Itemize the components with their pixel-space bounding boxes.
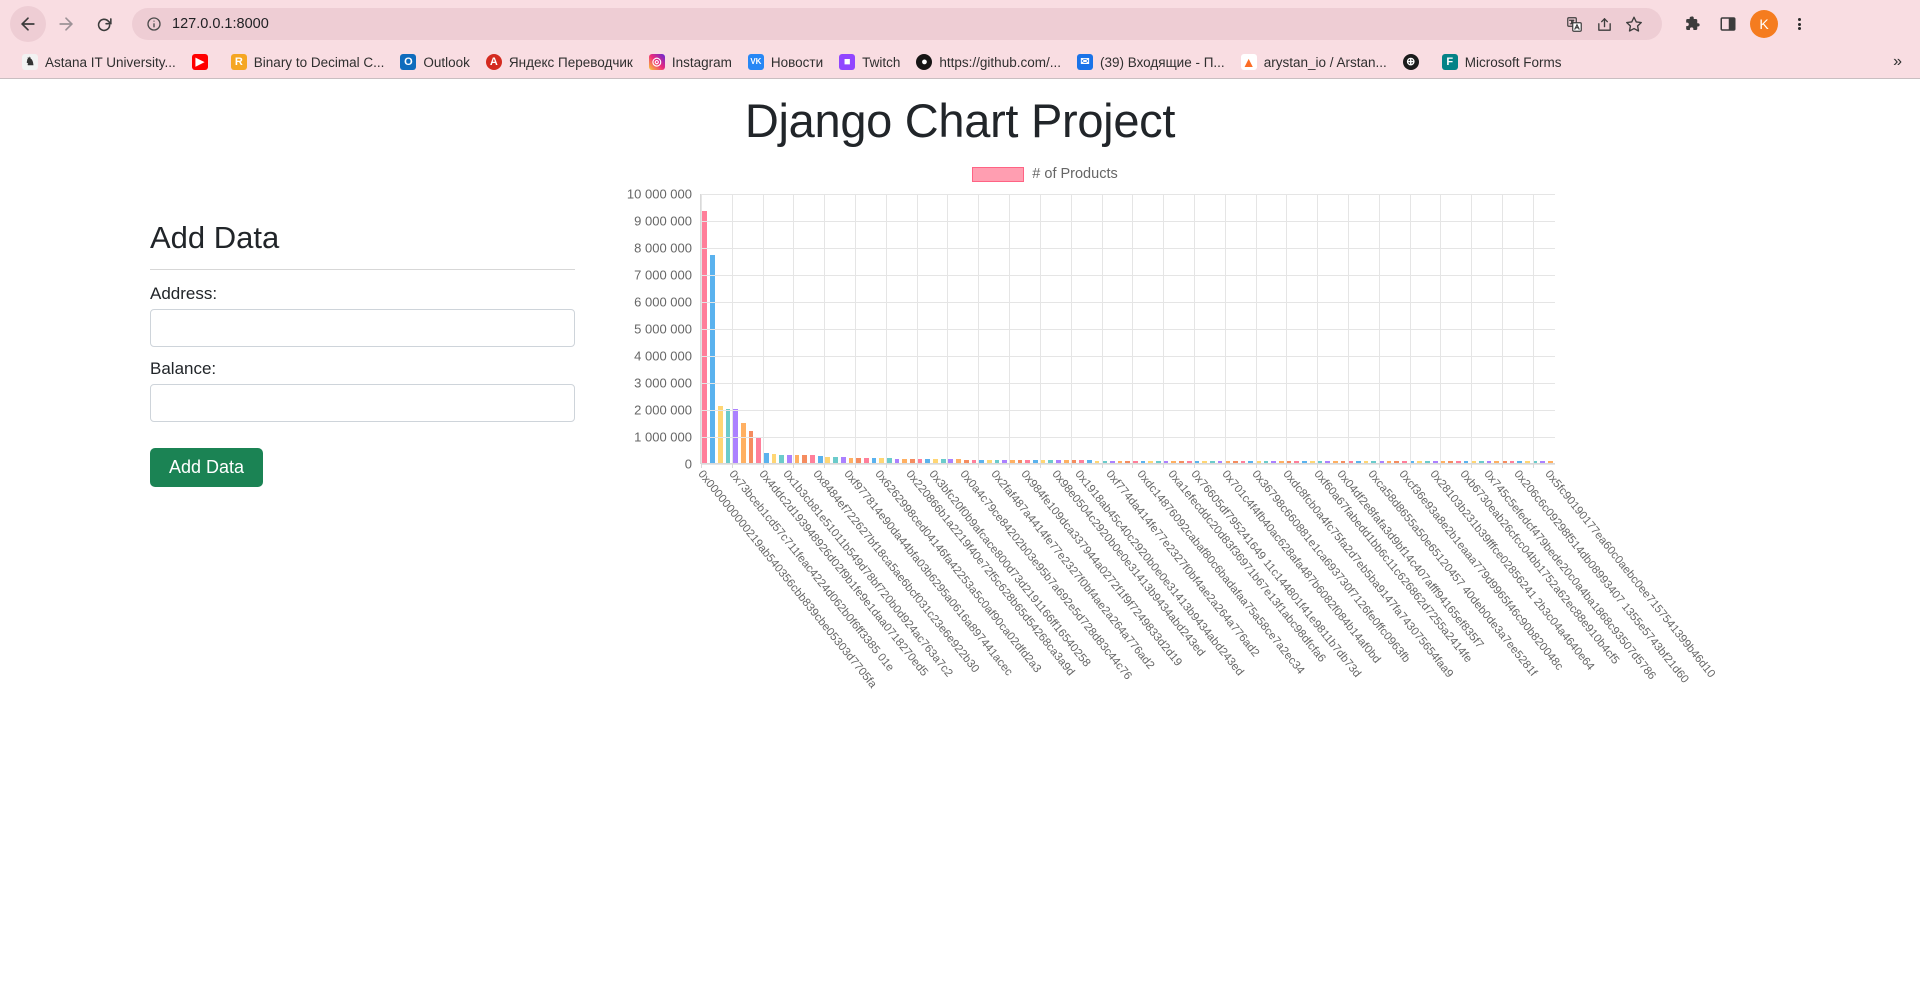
bookmark-label: Новости <box>771 55 823 70</box>
x-axis-tick-mark <box>701 463 702 468</box>
chart-bar[interactable] <box>787 455 792 463</box>
grid-line-vertical <box>1502 194 1503 463</box>
page-title: Django Chart Project <box>0 79 1920 148</box>
grid-line-vertical <box>824 194 825 463</box>
x-axis-tick-mark <box>886 463 887 468</box>
chart-bar[interactable] <box>948 459 953 463</box>
x-axis-tick-mark <box>1163 463 1164 468</box>
chart-bar[interactable] <box>925 459 930 463</box>
chart-bar[interactable] <box>1156 461 1161 463</box>
github-icon: ● <box>916 54 932 70</box>
chart-bar[interactable] <box>1148 461 1153 463</box>
twitch-icon: ■ <box>839 54 855 70</box>
x-axis-tick-mark <box>1040 463 1041 468</box>
chart-bar[interactable] <box>1310 461 1315 463</box>
chart-bar[interactable] <box>1033 460 1038 463</box>
bookmarks-bar: ♞Astana IT University... ▶ RBinary to De… <box>0 46 1920 78</box>
content-row: Add Data Address: Balance: Add Data # of… <box>0 148 1920 806</box>
chart-bar[interactable] <box>902 459 907 463</box>
chart-bar[interactable] <box>918 459 923 463</box>
form-heading: Add Data <box>150 220 560 256</box>
x-axis-tick-mark <box>1471 463 1472 468</box>
chart-bar[interactable] <box>1164 461 1169 463</box>
grid-line-vertical <box>1225 194 1226 463</box>
y-axis-tick-label: 6 000 000 <box>634 295 692 310</box>
chart-bar[interactable] <box>749 431 754 463</box>
chart-bar[interactable] <box>1248 461 1253 463</box>
chart-bar[interactable] <box>1256 461 1261 463</box>
y-axis-tick-label: 1 000 000 <box>634 430 692 445</box>
grid-line-horizontal <box>701 437 1555 438</box>
bookmark-label: Outlook <box>423 55 470 70</box>
chart-bar[interactable] <box>1417 461 1422 463</box>
x-axis-tick-mark <box>1225 463 1226 468</box>
chart-bar[interactable] <box>1271 461 1276 463</box>
x-axis-tick-mark <box>763 463 764 468</box>
chart-bar[interactable] <box>1210 461 1215 463</box>
avatar[interactable]: K <box>1750 10 1778 38</box>
grid-line-vertical <box>1471 194 1472 463</box>
mail-icon: ✉ <box>1077 54 1093 70</box>
x-axis-tick-mark <box>1256 463 1257 468</box>
chart-bar[interactable] <box>841 457 846 463</box>
chart-bar[interactable] <box>1056 460 1061 463</box>
x-axis-tick-mark <box>1348 463 1349 468</box>
x-axis-tick-mark <box>824 463 825 468</box>
chart-bar[interactable] <box>833 457 838 463</box>
chart-bar[interactable] <box>1194 461 1199 463</box>
grid-line-vertical <box>1102 194 1103 463</box>
chart-bar[interactable] <box>1540 461 1545 463</box>
chart-bar[interactable] <box>1371 461 1376 463</box>
grid-line-vertical <box>1533 194 1534 463</box>
bookmark-label: https://github.com/... <box>939 55 1061 70</box>
chart-bar[interactable] <box>849 458 854 463</box>
address-input[interactable] <box>150 309 575 347</box>
chart-bar[interactable] <box>979 460 984 463</box>
bookmarks-overflow-button[interactable]: » <box>1887 53 1908 71</box>
instagram-icon: ◎ <box>649 54 665 70</box>
microsoft-forms-icon: F <box>1442 54 1458 70</box>
chart-bar[interactable] <box>956 459 961 463</box>
products-bar-chart[interactable]: # of Products 01 000 0002 000 0003 000 0… <box>570 166 1670 806</box>
three-dot-menu-icon[interactable] <box>1786 10 1812 38</box>
chart-bar[interactable] <box>1525 461 1530 463</box>
chart-bar[interactable] <box>1141 461 1146 463</box>
chart-bar[interactable] <box>1041 460 1046 463</box>
address-label: Address: <box>150 284 560 304</box>
puzzle-piece-icon[interactable] <box>1678 10 1706 38</box>
x-axis-tick-mark <box>793 463 794 468</box>
address-bar[interactable]: 127.0.0.1:8000 <box>132 8 1662 40</box>
chart-bar[interactable] <box>1002 460 1007 463</box>
rapidtables-icon: R <box>231 54 247 70</box>
translate-icon[interactable] <box>1560 10 1588 38</box>
bookmark-item[interactable]: ■Twitch <box>831 51 908 73</box>
chart-bar[interactable] <box>1510 461 1515 463</box>
chart-bar[interactable] <box>1179 461 1184 463</box>
yandex-translate-icon: А <box>486 54 502 70</box>
bookmark-label: (39) Входящие - П... <box>1100 55 1225 70</box>
grid-line-vertical <box>1410 194 1411 463</box>
chart-bar[interactable] <box>772 454 777 463</box>
grid-line-horizontal <box>701 329 1555 330</box>
legend-label: # of Products <box>1032 166 1117 182</box>
chart-bar[interactable] <box>1202 461 1207 463</box>
grid-line-vertical <box>1379 194 1380 463</box>
grid-line-vertical <box>1348 194 1349 463</box>
legend-swatch-icon <box>972 167 1024 182</box>
grid-line-horizontal <box>701 221 1555 222</box>
x-axis-tick-mark <box>1132 463 1133 468</box>
bookmark-item[interactable]: FMicrosoft Forms <box>1434 51 1570 73</box>
bookmark-label: Instagram <box>672 55 732 70</box>
outlook-icon: O <box>400 54 416 70</box>
chart-bar[interactable] <box>1071 460 1076 463</box>
chart-column: # of Products 01 000 0002 000 0003 000 0… <box>560 148 1920 806</box>
x-axis-tick-mark <box>978 463 979 468</box>
grid-line-horizontal <box>701 383 1555 384</box>
x-axis-tick-mark <box>1009 463 1010 468</box>
chart-bar[interactable] <box>1125 461 1130 463</box>
chart-bar[interactable] <box>895 459 900 463</box>
grid-line-vertical <box>1009 194 1010 463</box>
chart-bar[interactable] <box>795 455 800 463</box>
bookmark-label: Microsoft Forms <box>1465 55 1562 70</box>
grid-line-vertical <box>1163 194 1164 463</box>
chart-bar[interactable] <box>1118 461 1123 463</box>
grid-line-horizontal <box>701 410 1555 411</box>
y-axis-tick-label: 0 <box>685 457 692 472</box>
grid-line-vertical <box>1256 194 1257 463</box>
side-panel-icon[interactable] <box>1714 10 1742 38</box>
grid-line-horizontal <box>701 356 1555 357</box>
browser-toolbar: 127.0.0.1:8000 K <box>0 2 1920 46</box>
chart-bar[interactable] <box>1241 461 1246 463</box>
grid-line-horizontal <box>701 275 1555 276</box>
chart-bar[interactable] <box>1494 461 1499 463</box>
chart-bar[interactable] <box>1171 461 1176 463</box>
x-axis-tick-mark <box>1102 463 1103 468</box>
x-axis-tick-mark <box>947 463 948 468</box>
chart-bar[interactable] <box>1448 461 1453 463</box>
reload-button[interactable] <box>86 6 122 42</box>
chart-bar[interactable] <box>941 459 946 463</box>
chart-bar[interactable] <box>872 458 877 463</box>
grid-line-vertical <box>1440 194 1441 463</box>
chart-bar[interactable] <box>879 458 884 463</box>
browser-actions: K <box>1670 10 1812 38</box>
grid-line-horizontal <box>701 302 1555 303</box>
chart-bar[interactable] <box>1325 461 1330 463</box>
grid-line-vertical <box>886 194 887 463</box>
chart-plot-area: 01 000 0002 000 0003 000 0004 000 0005 0… <box>700 194 1555 464</box>
chart-bar[interactable] <box>1464 461 1469 463</box>
chart-bar[interactable] <box>1064 460 1069 463</box>
form-divider <box>150 269 575 270</box>
grid-line-vertical <box>1194 194 1195 463</box>
chart-bar[interactable] <box>1133 461 1138 463</box>
y-axis-tick-label: 8 000 000 <box>634 241 692 256</box>
chart-bar[interactable] <box>1487 461 1492 463</box>
chart-bar[interactable] <box>802 455 807 463</box>
bookmark-item[interactable]: АЯндекс Переводчик <box>478 51 641 73</box>
y-axis-tick-label: 3 000 000 <box>634 376 692 391</box>
gitlab-icon: ▲ <box>1241 54 1257 70</box>
chart-bar[interactable] <box>864 458 869 463</box>
chart-bar[interactable] <box>1279 461 1284 463</box>
chart-bar[interactable] <box>1287 461 1292 463</box>
chart-bar[interactable] <box>1110 461 1115 463</box>
chart-bar[interactable] <box>1394 461 1399 463</box>
chart-bar[interactable] <box>1233 461 1238 463</box>
bookmark-item[interactable]: ⊕ <box>1395 51 1434 73</box>
bookmark-label: Binary to Decimal C... <box>254 55 385 70</box>
bookmark-item[interactable]: ▲arystan_io / Arstan... <box>1233 51 1395 73</box>
y-axis-tick-label: 5 000 000 <box>634 322 692 337</box>
chart-bar[interactable] <box>1356 461 1361 463</box>
chart-x-axis-labels: 0x0000000000219ab540356cbb839cbe05303d77… <box>700 469 1555 799</box>
bookmark-label: Astana IT University... <box>45 55 176 70</box>
x-axis-tick-mark <box>1410 463 1411 468</box>
grid-line-vertical <box>1071 194 1072 463</box>
page-body: Django Chart Project Add Data Address: B… <box>0 79 1920 985</box>
bookmark-label: arystan_io / Arstan... <box>1264 55 1387 70</box>
grid-line-horizontal <box>701 464 1555 465</box>
y-axis-tick-label: 10 000 000 <box>627 187 692 202</box>
grid-line-vertical <box>855 194 856 463</box>
bookmark-item[interactable]: ◎Instagram <box>641 51 740 73</box>
x-axis-tick-mark <box>1379 463 1380 468</box>
chart-bar[interactable] <box>1079 460 1084 463</box>
grid-line-vertical <box>1132 194 1133 463</box>
chart-bar[interactable] <box>1087 460 1092 463</box>
chart-bar[interactable] <box>741 423 746 464</box>
chart-bar[interactable] <box>1010 460 1015 463</box>
share-icon[interactable] <box>1590 10 1618 38</box>
bookmark-item[interactable]: ●https://github.com/... <box>908 51 1069 73</box>
chart-bar[interactable] <box>1294 461 1299 463</box>
chart-bar[interactable] <box>1018 460 1023 463</box>
chart-bar[interactable] <box>1425 461 1430 463</box>
back-button[interactable] <box>10 6 46 42</box>
aitu-icon: ♞ <box>22 54 38 70</box>
chart-legend[interactable]: # of Products <box>495 166 1595 182</box>
x-axis-tick-mark <box>1533 463 1534 468</box>
x-axis-tick-mark <box>1194 463 1195 468</box>
chart-bar[interactable] <box>1225 461 1230 463</box>
x-axis-tick-mark <box>1286 463 1287 468</box>
chart-bar[interactable] <box>995 460 1000 463</box>
grid-line-vertical <box>1286 194 1287 463</box>
y-axis-tick-label: 2 000 000 <box>634 403 692 418</box>
chart-bar[interactable] <box>1095 461 1100 463</box>
grid-line-horizontal <box>701 194 1555 195</box>
chart-bar[interactable] <box>887 458 892 463</box>
x-axis-tick-mark <box>917 463 918 468</box>
chart-bar[interactable] <box>718 406 723 463</box>
chart-bar[interactable] <box>1456 461 1461 463</box>
chart-bar[interactable] <box>1218 461 1223 463</box>
y-axis-tick-label: 4 000 000 <box>634 349 692 364</box>
chart-bar[interactable] <box>825 457 830 463</box>
chart-bar[interactable] <box>1302 461 1307 463</box>
bookmark-label: Яндекс Переводчик <box>509 55 633 70</box>
y-axis-tick-label: 7 000 000 <box>634 268 692 283</box>
bookmark-item[interactable]: ♞Astana IT University... <box>14 51 184 73</box>
chart-bar[interactable] <box>1479 461 1484 463</box>
chart-bar[interactable] <box>818 456 823 463</box>
chart-bar[interactable] <box>756 438 761 463</box>
chart-bar[interactable] <box>764 453 769 463</box>
chart-bar[interactable] <box>1102 461 1107 463</box>
chart-bar[interactable] <box>910 459 915 463</box>
chart-bar[interactable] <box>933 459 938 463</box>
chart-bar[interactable] <box>1387 461 1392 463</box>
browser-chrome: 127.0.0.1:8000 K <box>0 0 1920 79</box>
chart-bar[interactable] <box>1264 461 1269 463</box>
x-axis-tick-mark <box>1502 463 1503 468</box>
chart-bar[interactable] <box>1333 461 1338 463</box>
bookmark-item[interactable]: VKНовости <box>740 51 831 73</box>
y-axis-tick-label: 9 000 000 <box>634 214 692 229</box>
balance-input[interactable] <box>150 384 575 422</box>
grid-line-vertical <box>763 194 764 463</box>
grid-line-vertical <box>978 194 979 463</box>
chart-bar[interactable] <box>1548 461 1553 463</box>
chart-bar[interactable] <box>810 455 815 463</box>
chart-bar[interactable] <box>972 460 977 463</box>
chart-bar[interactable] <box>1048 460 1053 463</box>
bookmark-item[interactable]: RBinary to Decimal C... <box>223 51 393 73</box>
star-icon[interactable] <box>1620 10 1648 38</box>
chart-bar[interactable] <box>1517 461 1522 463</box>
vk-icon: VK <box>748 54 764 70</box>
x-axis-tick-mark <box>855 463 856 468</box>
bookmark-item[interactable]: OOutlook <box>392 51 478 73</box>
x-axis-tick-mark <box>732 463 733 468</box>
add-data-form: Add Data Address: Balance: Add Data <box>0 148 560 806</box>
grid-line-vertical <box>917 194 918 463</box>
balance-label: Balance: <box>150 359 560 379</box>
chart-bar[interactable] <box>779 455 784 463</box>
omnibox-actions <box>1560 10 1648 38</box>
youtube-icon: ▶ <box>192 54 208 70</box>
chart-bar[interactable] <box>964 460 969 464</box>
bookmark-label: Twitch <box>862 55 900 70</box>
info-circle-icon[interactable] <box>146 16 162 32</box>
url-text[interactable]: 127.0.0.1:8000 <box>172 16 269 32</box>
chart-bar[interactable] <box>987 460 992 463</box>
grid-line-vertical <box>1040 194 1041 463</box>
bookmark-item[interactable]: ▶ <box>184 51 223 73</box>
bookmark-item[interactable]: ✉(39) Входящие - П... <box>1069 51 1233 73</box>
chart-bar[interactable] <box>1341 461 1346 463</box>
chart-bar[interactable] <box>1364 461 1369 463</box>
chart-bar[interactable] <box>1402 461 1407 463</box>
grid-line-vertical <box>732 194 733 463</box>
globe-icon: ⊕ <box>1403 54 1419 70</box>
forward-button[interactable] <box>48 6 84 42</box>
chart-bar[interactable] <box>710 255 715 463</box>
chart-bar[interactable] <box>856 458 861 463</box>
grid-line-vertical <box>1317 194 1318 463</box>
x-axis-tick-mark <box>1317 463 1318 468</box>
grid-line-horizontal <box>701 248 1555 249</box>
chart-bar[interactable] <box>1025 460 1030 463</box>
chart-bar[interactable] <box>1187 461 1192 463</box>
grid-line-vertical <box>793 194 794 463</box>
grid-line-vertical <box>947 194 948 463</box>
x-axis-tick-mark <box>1071 463 1072 468</box>
x-axis-tick-mark <box>1440 463 1441 468</box>
add-data-button[interactable]: Add Data <box>150 448 263 487</box>
grid-line-vertical <box>701 194 702 463</box>
chart-bar[interactable] <box>1433 461 1438 463</box>
